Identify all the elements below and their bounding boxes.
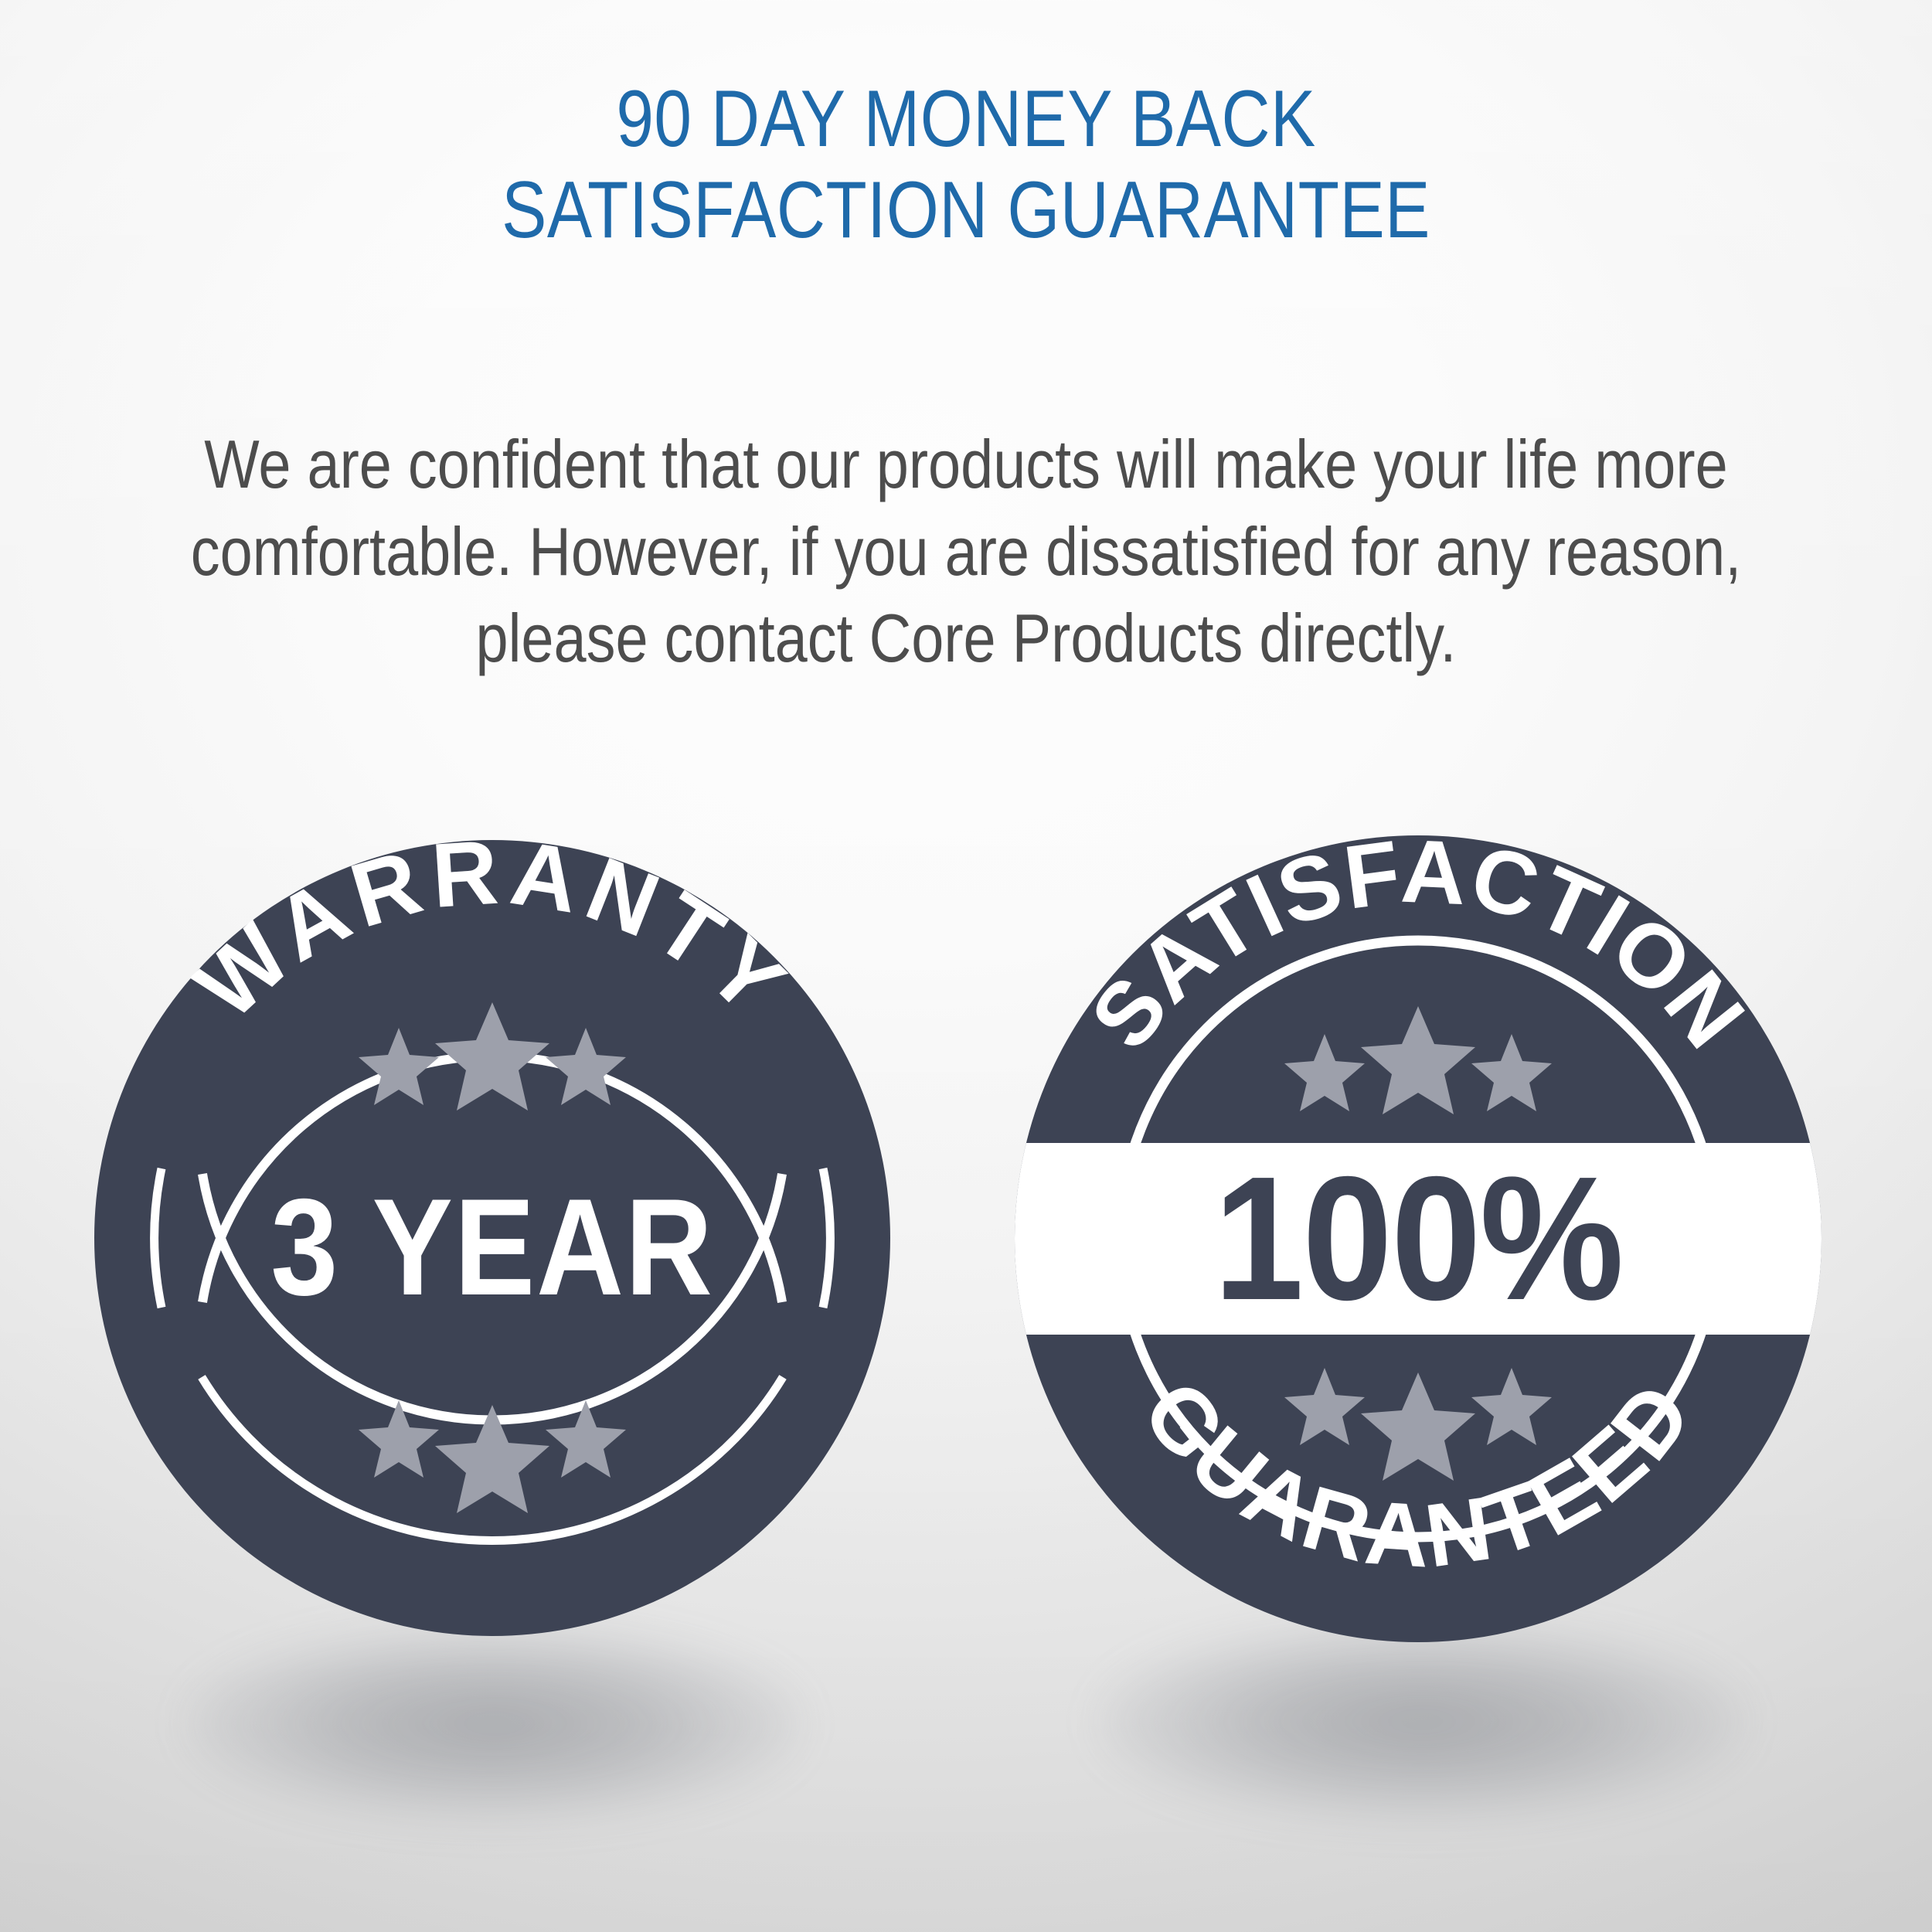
guarantee-band-text: 100% xyxy=(1213,1141,1622,1337)
warranty-center-text: 3 YEAR xyxy=(270,1170,714,1325)
page-title-line-2: SATISFACTION GUARANTEE xyxy=(155,165,1777,257)
satisfaction-guarantee-badge: 100% SATISFACTION GUARANTEED xyxy=(1005,825,1835,1660)
body-paragraph: We are confident that our products will … xyxy=(135,421,1797,682)
body-paragraph-line-2: comfortable. However, if you are dissati… xyxy=(135,509,1797,596)
page-title: 90 DAY MONEY BACK SATISFACTION GUARANTEE xyxy=(155,74,1777,256)
body-paragraph-line-1: We are confident that our products will … xyxy=(135,421,1797,509)
warranty-badge: WARRANTY 3 YEAR xyxy=(85,831,904,1658)
guarantee-poster: 90 DAY MONEY BACK SATISFACTION GUARANTEE… xyxy=(0,0,1932,1932)
body-paragraph-line-3: please contact Core Products directly. xyxy=(135,595,1797,682)
page-title-line-1: 90 DAY MONEY BACK xyxy=(155,74,1777,165)
